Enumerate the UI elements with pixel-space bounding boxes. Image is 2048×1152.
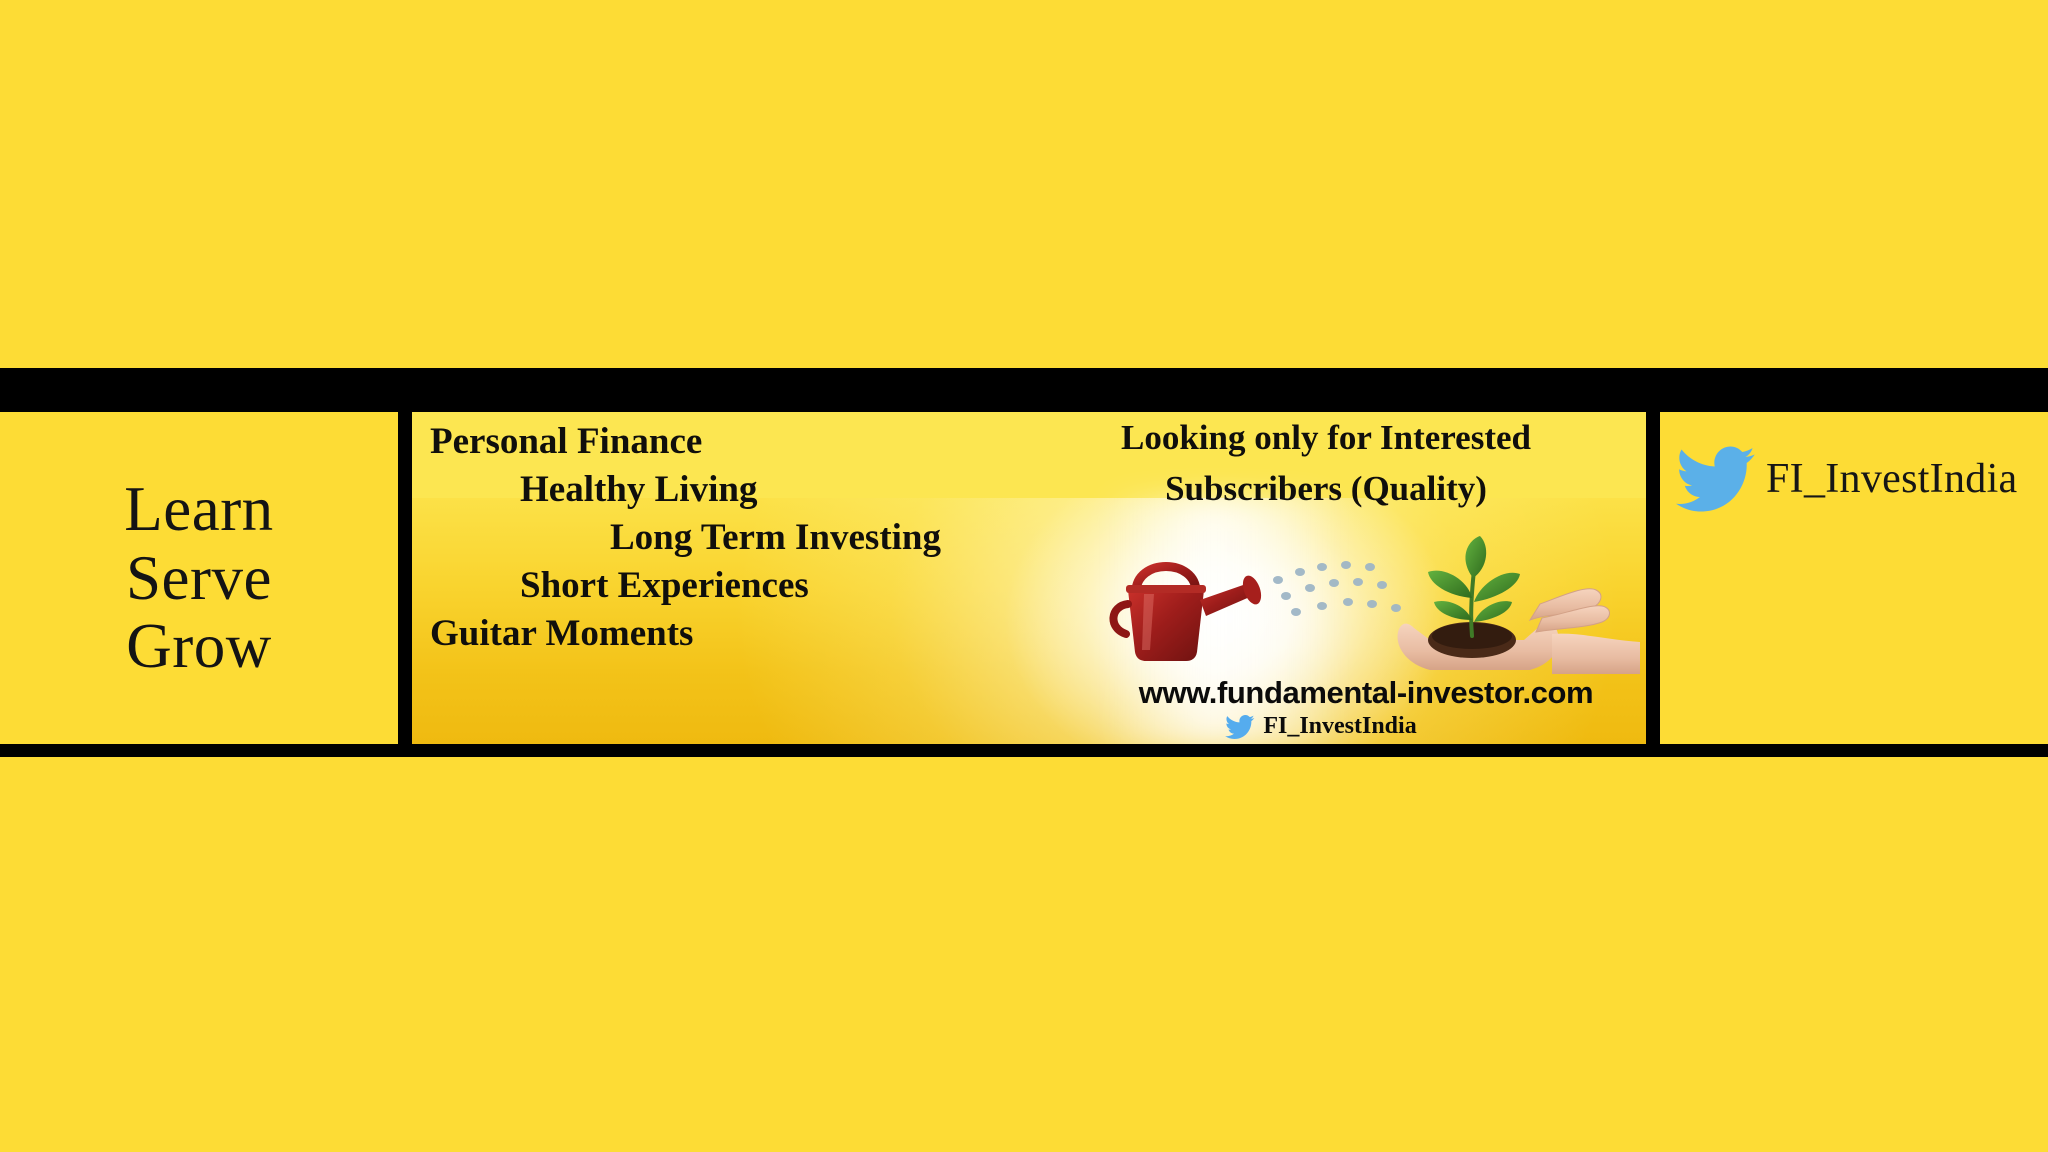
social-panel: FI_InvestIndia xyxy=(1660,412,2048,744)
tagline-block: Looking only for Interested Subscribers … xyxy=(1016,412,1636,512)
top-black-bar xyxy=(0,368,2048,412)
topic-item-healthy-living[interactable]: Healthy Living xyxy=(520,471,757,508)
twitter-handle-large: FI_InvestIndia xyxy=(1766,455,2017,503)
twitter-bird-icon xyxy=(1225,715,1255,739)
topic-item-personal-finance[interactable]: Personal Finance xyxy=(430,423,702,460)
website-url[interactable]: www.fundamental-investor.com xyxy=(1086,677,1646,710)
divider-right xyxy=(1646,412,1660,744)
topic-item-guitar-moments[interactable]: Guitar Moments xyxy=(430,615,693,652)
motto-line-grow: Grow xyxy=(126,612,271,681)
center-footer: www.fundamental-investor.com FI_InvestIn… xyxy=(1086,677,1646,740)
topic-item-long-term-investing[interactable]: Long Term Investing xyxy=(610,519,941,556)
tagline-line-2: Subscribers (Quality) xyxy=(1016,467,1636,512)
tagline-line-1: Looking only for Interested xyxy=(1016,416,1636,461)
divider-left xyxy=(398,412,412,744)
twitter-handle-small: FI_InvestIndia xyxy=(1263,713,1416,740)
motto-panel: Learn Serve Grow xyxy=(0,412,398,744)
channel-banner: Learn Serve Grow Personal Finance Health… xyxy=(0,0,2048,1152)
twitter-handle-row-large[interactable]: FI_InvestIndia xyxy=(1676,446,2017,512)
motto-line-learn: Learn xyxy=(124,475,273,544)
topic-list: Personal Finance Healthy Living Long Ter… xyxy=(412,412,1052,744)
banner-panel-strip: Learn Serve Grow Personal Finance Health… xyxy=(0,412,2048,744)
motto-line-serve: Serve xyxy=(126,544,272,613)
twitter-bird-icon-large xyxy=(1676,446,1756,512)
twitter-handle-row-small[interactable]: FI_InvestIndia xyxy=(1086,713,1556,740)
bottom-black-bar xyxy=(0,744,2048,757)
topic-item-short-experiences[interactable]: Short Experiences xyxy=(520,567,809,604)
watering-can-seedling-illustration xyxy=(1100,524,1640,674)
content-panel: Personal Finance Healthy Living Long Ter… xyxy=(412,412,1646,744)
